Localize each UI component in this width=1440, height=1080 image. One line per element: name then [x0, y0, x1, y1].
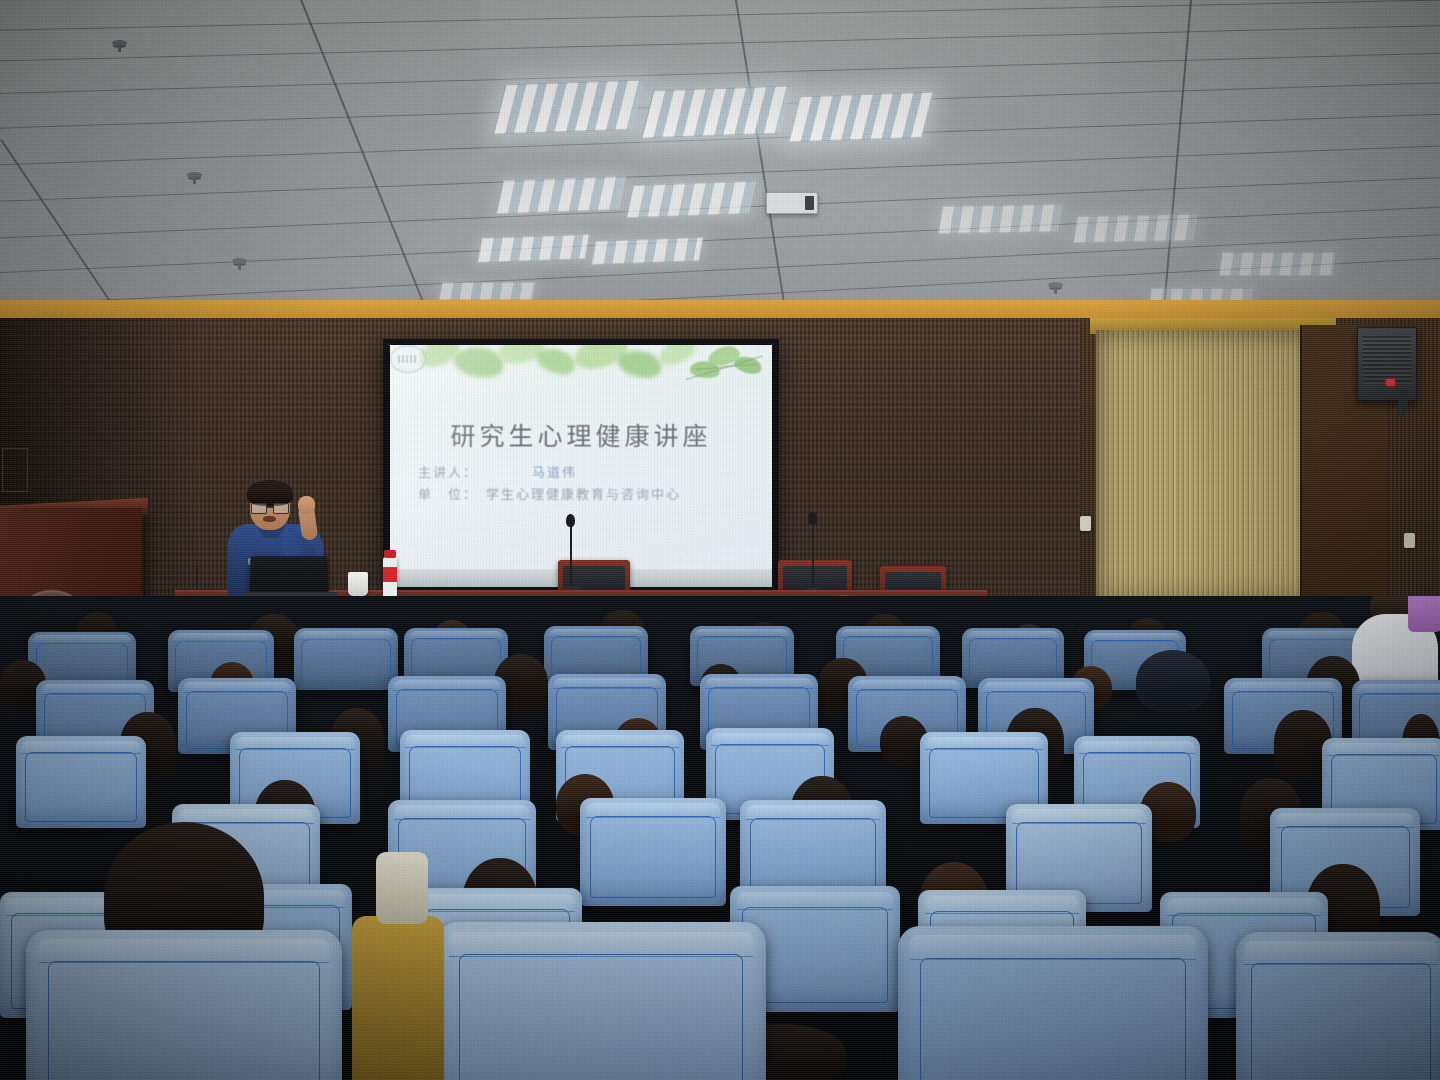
ceiling-light-panel: [438, 282, 535, 300]
slide-unit-name: 学生心理健康教育与咨询中心: [486, 484, 681, 503]
university-seal-icon: [390, 345, 426, 373]
sprinkler-head: [232, 258, 247, 264]
ceiling-light-panel: [641, 86, 791, 139]
attendee-clothing: [352, 916, 444, 1080]
attendee-clothing: [376, 852, 428, 924]
sprinkler-head: [1048, 282, 1063, 288]
wall-outlet[interactable]: [1080, 516, 1091, 531]
bottle-cap: [384, 550, 396, 558]
slide-speaker-label: 主讲人：: [418, 462, 478, 481]
ceiling-light-panel: [789, 92, 934, 143]
presenter-mouth: [263, 516, 276, 522]
microphone-stem: [570, 524, 572, 588]
wall-picture-frame: [2, 448, 28, 492]
attendee-head-with-cap: [1136, 650, 1210, 712]
slide-title: 研究生心理健康讲座: [390, 417, 772, 453]
seat[interactable]: [580, 798, 726, 906]
purple-bag: [1408, 596, 1440, 632]
sprinkler-head: [187, 172, 202, 178]
slide-speaker-name: 马道伟: [532, 462, 577, 481]
ceiling-light-panel: [626, 181, 756, 218]
seat[interactable]: [16, 736, 146, 828]
ceiling-light-panel: [1073, 214, 1198, 243]
sprinkler-head: [112, 40, 127, 46]
ceiling-light-panel: [493, 80, 644, 135]
ceiling-light-panel: [496, 176, 626, 214]
ceiling: [0, 0, 1440, 345]
paper-cup: [348, 572, 368, 596]
seat[interactable]: [898, 926, 1208, 1080]
ceiling-light-panel: [938, 204, 1063, 234]
seat[interactable]: [1236, 932, 1440, 1080]
microphone-head: [566, 514, 575, 527]
slide-unit-label: 单 位：: [418, 484, 478, 503]
seat[interactable]: [26, 930, 342, 1080]
speaker-indicator-led: [1386, 379, 1395, 386]
lecture-hall-scene: 研究生心理健康讲座 主讲人： 马道伟 单 位： 学生心理健康教育与咨询中心 · …: [0, 0, 1440, 1080]
ceiling-light-panel: [477, 234, 589, 263]
eyeglasses-icon: [251, 503, 289, 512]
ceiling-light-panel: [1218, 252, 1335, 276]
projection-screen[interactable]: 研究生心理健康讲座 主讲人： 马道伟 单 位： 学生心理健康教育与咨询中心: [390, 345, 772, 587]
microphone-head: [808, 512, 817, 525]
ceiling-projector: [766, 192, 818, 214]
seat[interactable]: [436, 922, 766, 1080]
microphone-stem: [812, 522, 814, 590]
seat[interactable]: [294, 628, 398, 690]
water-bottle: [383, 556, 397, 598]
vertical-blinds[interactable]: [1096, 330, 1328, 620]
ceiling-light-panel: [592, 237, 704, 265]
audience-seating: [0, 596, 1440, 1080]
laptop[interactable]: [250, 556, 329, 596]
wall-outlet[interactable]: [1404, 533, 1415, 548]
presenter-hand: [298, 496, 315, 514]
